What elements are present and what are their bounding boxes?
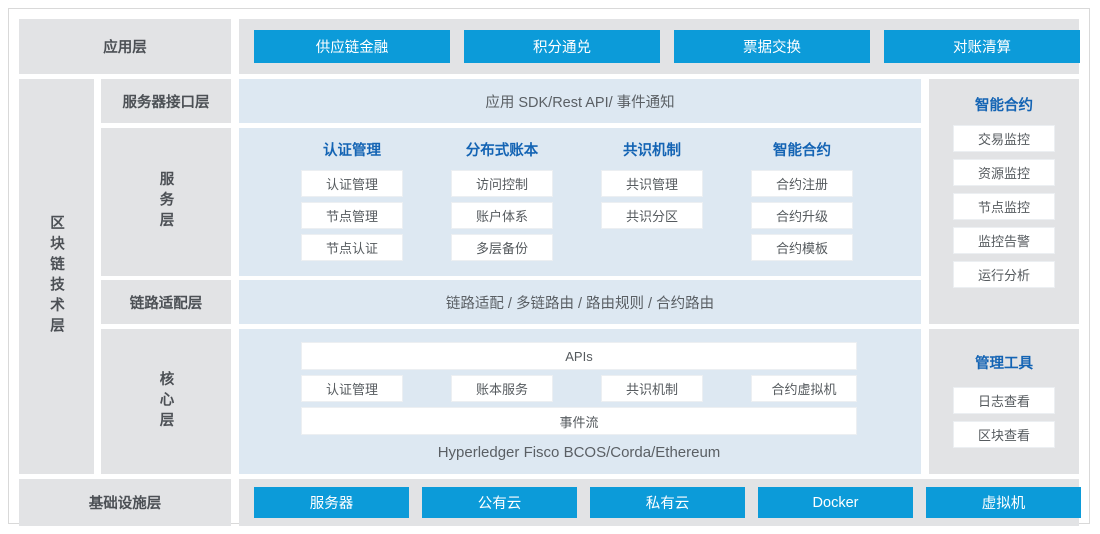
service-chip-label: 多层备份 [476,238,528,257]
server-interface-layer-content: 应用 SDK/Rest API/ 事件通知 [239,79,921,123]
infra-item-label: 公有云 [478,492,522,513]
service-chip-auth-1[interactable]: 认证管理 [301,170,403,197]
service-column-head-text: 共识机制 [623,139,681,160]
service-column-head-text: 智能合约 [773,139,831,160]
service-chip-label: 认证管理 [326,174,378,193]
management-tools-panel-head: 管理工具 [929,351,1079,373]
link-adapter-layer-label: 链路适配层 [101,280,231,324]
app-item-label: 票据交换 [743,36,801,57]
service-layer-label-text: 服务层 [156,171,177,233]
smart-contract-panel: 智能合约 交易监控 资源监控 节点监控 监控告警 运行分析 [929,79,1079,324]
smart-contract-item-label: 资源监控 [978,163,1030,182]
service-chip-consensus-2[interactable]: 共识分区 [601,202,703,229]
core-module-label: 认证管理 [326,379,378,398]
infra-item-public-cloud[interactable]: 公有云 [422,487,577,518]
service-column-head-smart-contract: 智能合约 [747,138,857,160]
infrastructure-layer-label-text: 基础设施层 [89,492,162,513]
smart-contract-item-transaction-monitor[interactable]: 交易监控 [953,125,1055,152]
smart-contract-item-node-monitor[interactable]: 节点监控 [953,193,1055,220]
core-module-label: 账本服务 [476,379,528,398]
app-item-label: 对账清算 [953,36,1011,57]
app-item-supply-chain-finance[interactable]: 供应链金融 [254,30,450,63]
service-chip-ledger-1[interactable]: 访问控制 [451,170,553,197]
smart-contract-panel-head: 智能合约 [929,93,1079,115]
app-item-points-exchange[interactable]: 积分通兑 [464,30,660,63]
service-chip-label: 节点认证 [326,238,378,257]
smart-contract-item-monitor-alarm[interactable]: 监控告警 [953,227,1055,254]
server-interface-layer-label-text: 服务器接口层 [123,91,210,112]
app-item-label: 积分通兑 [533,36,591,57]
core-module-consensus[interactable]: 共识机制 [601,375,703,402]
service-chip-label: 合约模板 [776,238,828,257]
core-module-ledger-service[interactable]: 账本服务 [451,375,553,402]
blockchain-tech-layer-label-text: 区块链技术层 [46,215,67,338]
infra-item-virtual-machine[interactable]: 虚拟机 [926,487,1081,518]
app-item-label: 供应链金融 [316,36,389,57]
service-chip-contract-2[interactable]: 合约升级 [751,202,853,229]
core-layer-label-text: 核心层 [156,371,177,433]
smart-contract-item-label: 监控告警 [978,231,1030,250]
service-column-head-text: 分布式账本 [466,139,539,160]
service-chip-label: 共识管理 [626,174,678,193]
server-interface-layer-content-text: 应用 SDK/Rest API/ 事件通知 [485,91,674,112]
core-module-auth[interactable]: 认证管理 [301,375,403,402]
service-chip-label: 节点管理 [326,206,378,225]
app-item-reconciliation-settlement[interactable]: 对账清算 [884,30,1080,63]
service-chip-contract-3[interactable]: 合约模板 [751,234,853,261]
app-item-bill-exchange[interactable]: 票据交换 [674,30,870,63]
core-layer-content: APIs 认证管理 账本服务 共识机制 合约虚拟机 事件流 Hyperledge… [239,329,921,474]
smart-contract-item-label: 交易监控 [978,129,1030,148]
blockchain-tech-layer-label: 区块链技术层 [19,79,94,474]
core-module-contract-vm[interactable]: 合约虚拟机 [751,375,857,402]
infra-item-label: Docker [813,495,859,511]
service-chip-label: 合约升级 [776,206,828,225]
service-chip-label: 合约注册 [776,174,828,193]
application-layer-label: 应用层 [19,19,231,74]
infra-item-private-cloud[interactable]: 私有云 [590,487,745,518]
core-layer-label: 核心层 [101,329,231,474]
service-chip-auth-2[interactable]: 节点管理 [301,202,403,229]
link-adapter-layer-content-text: 链路适配 / 多链路由 / 路由规则 / 合约路由 [446,292,714,313]
service-chip-label: 账户体系 [476,206,528,225]
core-module-label: 共识机制 [626,379,678,398]
smart-contract-item-label: 运行分析 [978,265,1030,284]
service-column-head-ledger: 分布式账本 [447,138,557,160]
core-apis-label: APIs [565,349,592,364]
management-tool-item-label: 区块查看 [978,425,1030,444]
core-apis-box[interactable]: APIs [301,342,857,370]
service-chip-ledger-3[interactable]: 多层备份 [451,234,553,261]
core-module-label: 合约虚拟机 [771,379,836,398]
service-column-head-auth: 认证管理 [297,138,407,160]
management-tool-item-log-viewer[interactable]: 日志查看 [953,387,1055,414]
infrastructure-layer-items-container: 服务器 公有云 私有云 Docker 虚拟机 [239,479,1079,526]
smart-contract-item-runtime-analysis[interactable]: 运行分析 [953,261,1055,288]
service-chip-auth-3[interactable]: 节点认证 [301,234,403,261]
service-column-head-consensus: 共识机制 [597,138,707,160]
service-column-head-text: 认证管理 [323,139,381,160]
service-layer-content: 认证管理 认证管理 节点管理 节点认证 分布式账本 访问控制 账户体系 多层备份… [239,128,921,276]
service-chip-contract-1[interactable]: 合约注册 [751,170,853,197]
infra-item-server[interactable]: 服务器 [254,487,409,518]
core-platforms-label: Hyperledger Fisco BCOS/Corda/Ethereum [438,444,721,461]
management-tool-item-block-explorer[interactable]: 区块查看 [953,421,1055,448]
smart-contract-item-resource-monitor[interactable]: 资源监控 [953,159,1055,186]
link-adapter-layer-label-text: 链路适配层 [130,292,203,313]
infra-item-label: 虚拟机 [982,492,1026,513]
management-tools-panel-head-text: 管理工具 [975,352,1033,373]
diagram-frame: 应用层 供应链金融 积分通兑 票据交换 对账清算 区块链技术层 服务器接口层 应… [8,8,1090,524]
infrastructure-layer-label: 基础设施层 [19,479,231,526]
application-layer-label-text: 应用层 [103,36,147,57]
server-interface-layer-label: 服务器接口层 [101,79,231,123]
core-event-stream-label: 事件流 [559,412,598,431]
infra-item-label: 私有云 [646,492,690,513]
link-adapter-layer-content: 链路适配 / 多链路由 / 路由规则 / 合约路由 [239,280,921,324]
smart-contract-panel-head-text: 智能合约 [975,94,1033,115]
management-tool-item-label: 日志查看 [978,391,1030,410]
service-chip-label: 共识分区 [626,206,678,225]
infra-item-label: 服务器 [310,492,354,513]
core-event-stream-box[interactable]: 事件流 [301,407,857,435]
application-layer-items-container: 供应链金融 积分通兑 票据交换 对账清算 [239,19,1079,74]
smart-contract-item-label: 节点监控 [978,197,1030,216]
service-chip-label: 访问控制 [476,174,528,193]
service-chip-ledger-2[interactable]: 账户体系 [451,202,553,229]
service-layer-label: 服务层 [101,128,231,276]
management-tools-panel: 管理工具 日志查看 区块查看 [929,329,1079,474]
service-chip-consensus-1[interactable]: 共识管理 [601,170,703,197]
core-platforms-text: Hyperledger Fisco BCOS/Corda/Ethereum [301,437,857,467]
infra-item-docker[interactable]: Docker [758,487,913,518]
